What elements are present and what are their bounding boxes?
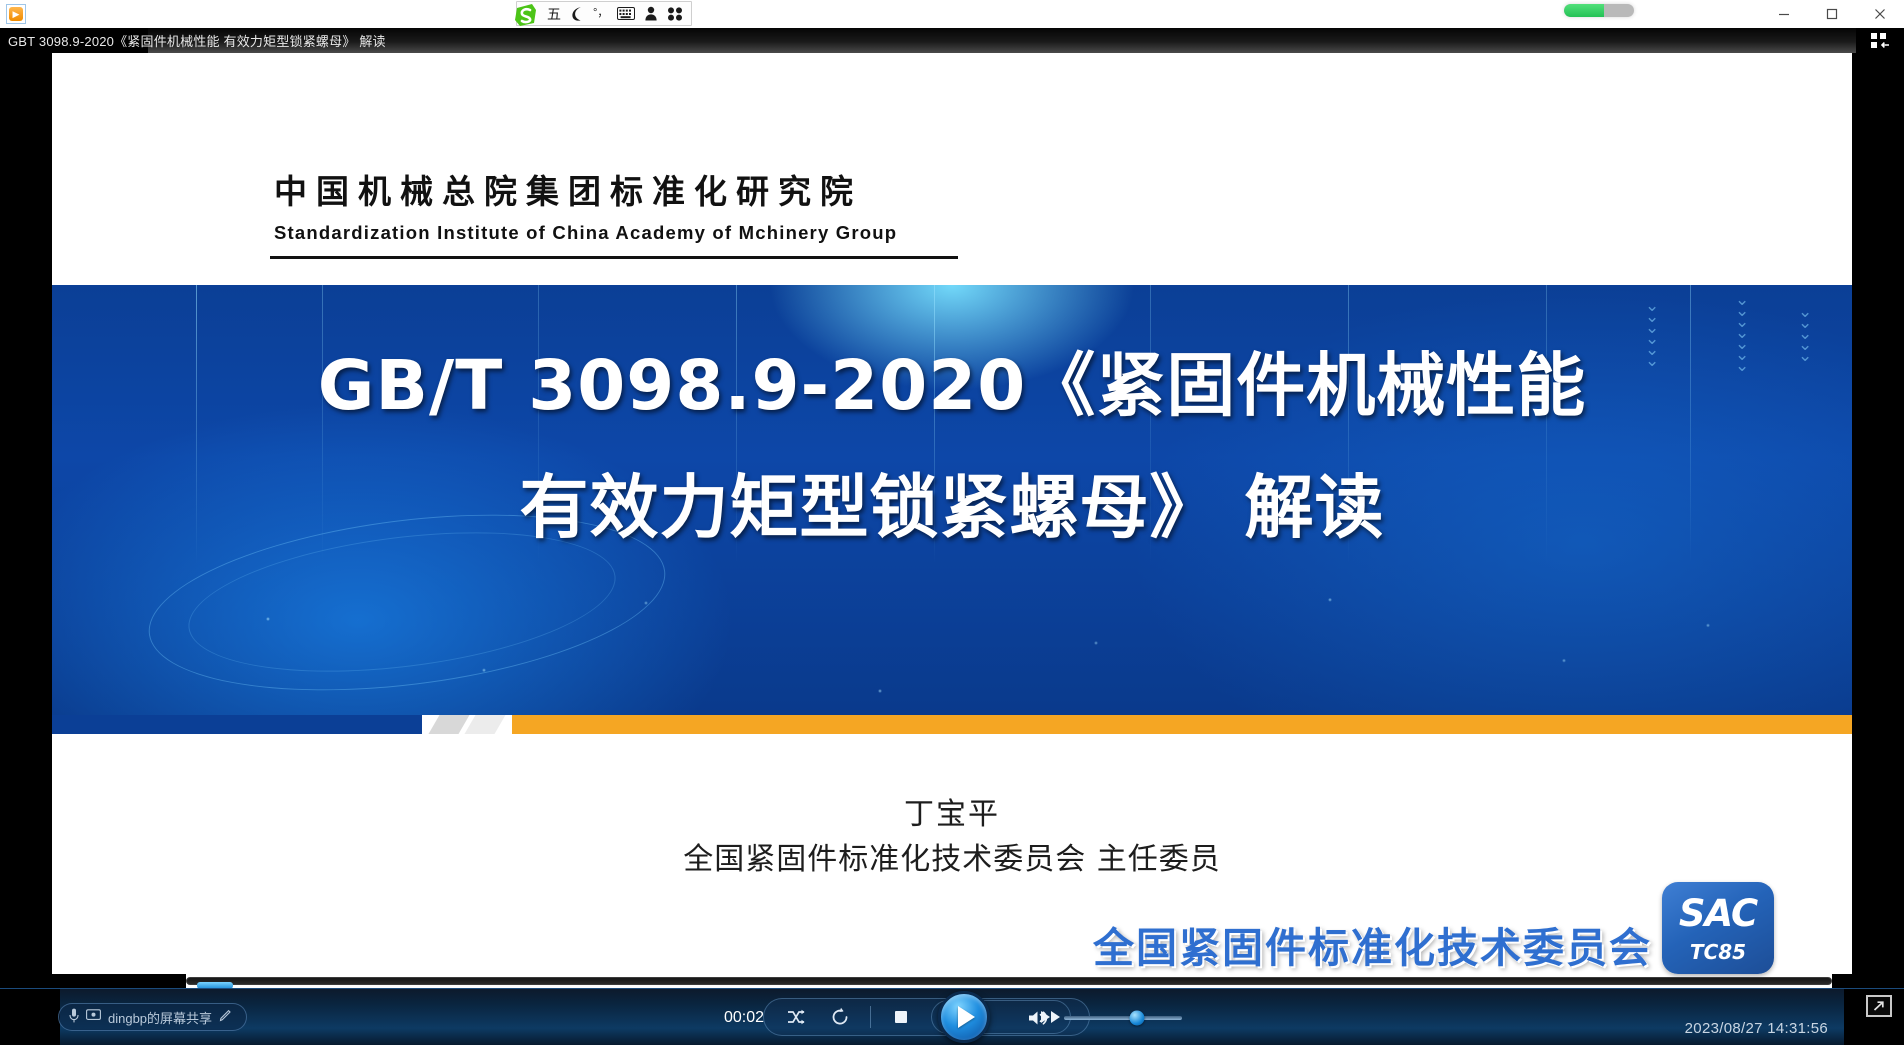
half-width-moon-icon[interactable]	[570, 4, 584, 24]
microphone-icon[interactable]	[69, 1008, 79, 1026]
presenter-name: 丁宝平	[52, 793, 1852, 837]
player-left-filler	[0, 989, 60, 1045]
recording-timestamp: 2023/08/27 14:31:56	[1685, 1020, 1828, 1037]
presenter-role: 全国紧固件标准化技术委员会 主任委员	[52, 837, 1852, 883]
slide-footer-banner: 全国紧固件标准化技术委员会 SAC TC85	[1093, 882, 1774, 974]
controls-separator	[870, 1006, 871, 1028]
maximize-button[interactable]	[1808, 0, 1856, 28]
soft-keyboard-icon[interactable]	[617, 4, 635, 24]
sac-logo-text: SAC	[1679, 895, 1757, 932]
repeat-button[interactable]	[826, 1003, 854, 1031]
seek-bar-row	[0, 974, 1904, 988]
page-title: GBT 3098.9-2020《紧固件机械性能 有效力矩型锁紧螺母》 解读	[8, 28, 386, 53]
playback-time: 00:02	[724, 989, 764, 1045]
divider-orange-bar	[512, 715, 1852, 734]
seek-right-filler	[1832, 974, 1904, 988]
play-glyph-icon: ▶	[9, 7, 23, 21]
sogou-ime-toolbar[interactable]: 五 °，	[516, 1, 692, 26]
stop-button[interactable]	[887, 1003, 915, 1031]
slide-title-line-1: GB/T 3098.9-2020《紧固件机械性能	[52, 325, 1852, 447]
slide-divider	[52, 715, 1852, 741]
organization-underline	[270, 256, 958, 259]
slide-title-line-2: 有效力矩型锁紧螺母》 解读	[52, 447, 1852, 569]
ime-mode-label[interactable]: 五	[547, 4, 561, 24]
volume-icon[interactable]	[1024, 1004, 1052, 1032]
player-control-bar: dingbp的屏幕共享 00:02	[0, 988, 1904, 1045]
toolbox-grid-icon[interactable]	[667, 4, 683, 24]
play-button[interactable]	[938, 991, 990, 1043]
layout-grid-arrow-icon[interactable]	[1856, 28, 1904, 53]
document-title-bar: GBT 3098.9-2020《紧固件机械性能 有效力矩型锁紧螺母》 解读	[0, 28, 1904, 53]
committee-banner-text: 全国紧固件标准化技术委员会	[1093, 914, 1652, 974]
divider-slash-2	[465, 715, 506, 734]
organization-name-cn: 中国机械总院集团标准化研究院	[274, 165, 897, 213]
screen-share-chip[interactable]: dingbp的屏幕共享	[58, 1003, 247, 1031]
organization-name-en: Standardization Institute of China Acade…	[274, 222, 897, 244]
os-top-strip: ▶ 五 °，	[0, 0, 1904, 28]
slide-header: 中国机械总院集团标准化研究院 Standardization Institute…	[52, 53, 1852, 285]
media-player-app-icon[interactable]: ▶	[6, 4, 26, 24]
green-progress-fill	[1564, 4, 1604, 17]
punctuation-icon[interactable]: °，	[593, 4, 608, 24]
seek-left-filler	[0, 974, 186, 988]
monitor-icon[interactable]	[86, 1009, 101, 1025]
close-button[interactable]	[1856, 0, 1904, 28]
sogou-logo-icon[interactable]	[511, 0, 541, 29]
sac-logo: SAC TC85	[1662, 882, 1774, 974]
organization-block: 中国机械总院集团标准化研究院 Standardization Institute…	[274, 165, 897, 244]
window-controls	[1760, 0, 1904, 28]
minimize-button[interactable]	[1760, 0, 1808, 28]
volume-control	[1024, 989, 1182, 1045]
presenter-block: 丁宝平 全国紧固件标准化技术委员会 主任委员	[52, 793, 1852, 883]
play-icon	[958, 1006, 975, 1028]
divider-slash-1	[429, 715, 470, 734]
presentation-slide[interactable]: 中国机械总院集团标准化研究院 Standardization Institute…	[52, 53, 1852, 1008]
hero-decor-dots	[52, 555, 1852, 715]
sac-logo-subtext: TC85	[1690, 942, 1746, 962]
app-window: ▶ 五 °，	[0, 0, 1904, 1045]
seek-bar[interactable]	[186, 977, 1832, 985]
slide-hero-banner: ⌄⌄⌄⌄⌄⌄ ⌄⌄⌄⌄⌄⌄⌄ ⌄⌄⌄⌄⌄ GB/T 3098.9-2020《紧固…	[52, 285, 1852, 715]
video-stage: 中国机械总院集团标准化研究院 Standardization Institute…	[0, 53, 1904, 1015]
user-icon[interactable]	[644, 4, 658, 24]
volume-slider-knob[interactable]	[1130, 1010, 1145, 1025]
green-progress-pill[interactable]	[1564, 4, 1634, 17]
pencil-icon[interactable]	[219, 1009, 232, 1025]
volume-slider[interactable]	[1064, 1016, 1182, 1020]
divider-blue-bar	[52, 715, 422, 734]
share-label: dingbp的屏幕共享	[108, 1008, 212, 1027]
shuffle-button[interactable]	[782, 1003, 810, 1031]
expand-arrow-icon[interactable]	[1866, 995, 1892, 1017]
